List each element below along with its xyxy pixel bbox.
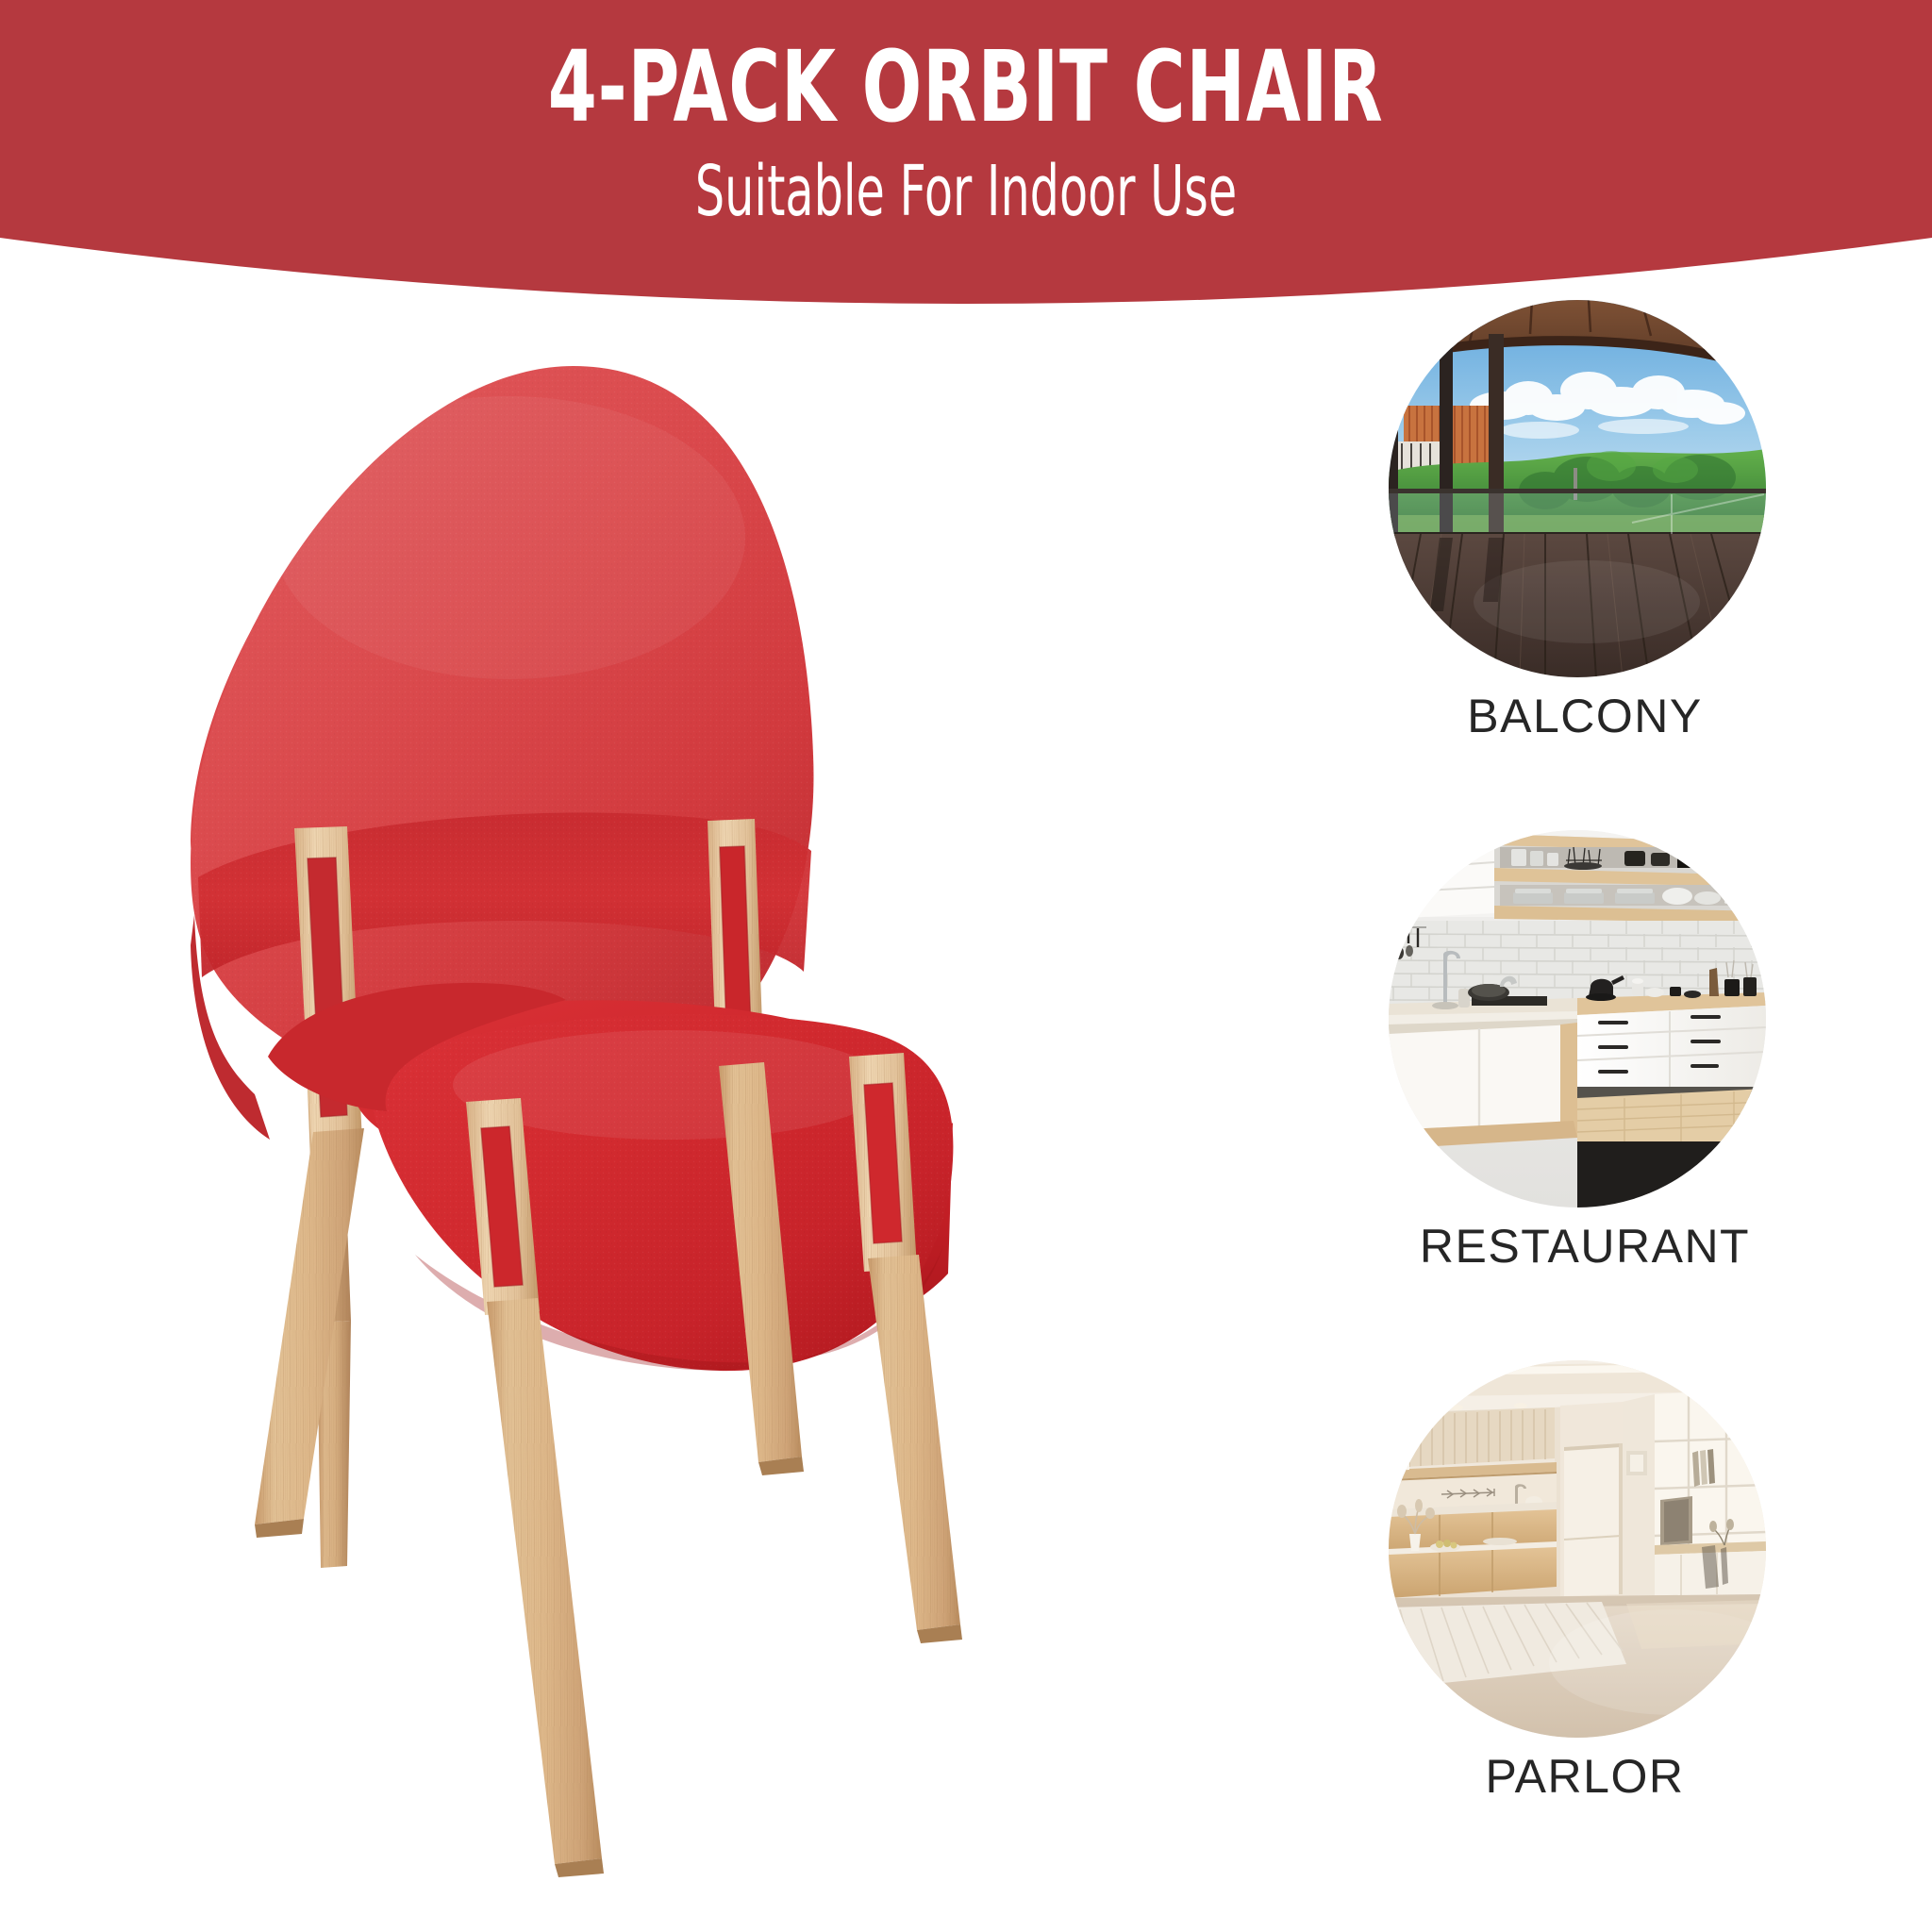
chair-leg-front-left [487, 1298, 604, 1877]
usecase-label-balcony: BALCONY [1368, 689, 1802, 743]
header-banner: 4-PACK ORBIT CHAIR Suitable For Indoor U… [0, 0, 1932, 311]
restaurant-scene [1389, 830, 1766, 1207]
usecase-label-restaurant: RESTAURANT [1368, 1219, 1802, 1274]
chair-seat [268, 983, 953, 1371]
balcony-scene [1389, 300, 1766, 677]
chair-leg-front-right [868, 1255, 962, 1643]
usecase-thumbnail-list: BALCONY [1368, 300, 1802, 1904]
usecase-item-parlor: PARLOR [1368, 1360, 1802, 1890]
parlor-scene [1389, 1360, 1766, 1738]
banner-text-block: 4-PACK ORBIT CHAIR Suitable For Indoor U… [0, 0, 1932, 311]
page-subtitle: Suitable For Indoor Use [695, 157, 1237, 226]
usecase-item-balcony: BALCONY [1368, 300, 1802, 830]
restaurant-thumbnail [1389, 830, 1766, 1207]
balcony-thumbnail [1389, 300, 1766, 677]
parlor-thumbnail [1389, 1360, 1766, 1738]
page-title: 4-PACK ORBIT CHAIR [548, 38, 1384, 136]
usecase-item-restaurant: RESTAURANT [1368, 830, 1802, 1360]
usecase-label-parlor: PARLOR [1368, 1749, 1802, 1804]
chair-illustration [104, 311, 1340, 1877]
product-image-chair [104, 311, 1340, 1877]
